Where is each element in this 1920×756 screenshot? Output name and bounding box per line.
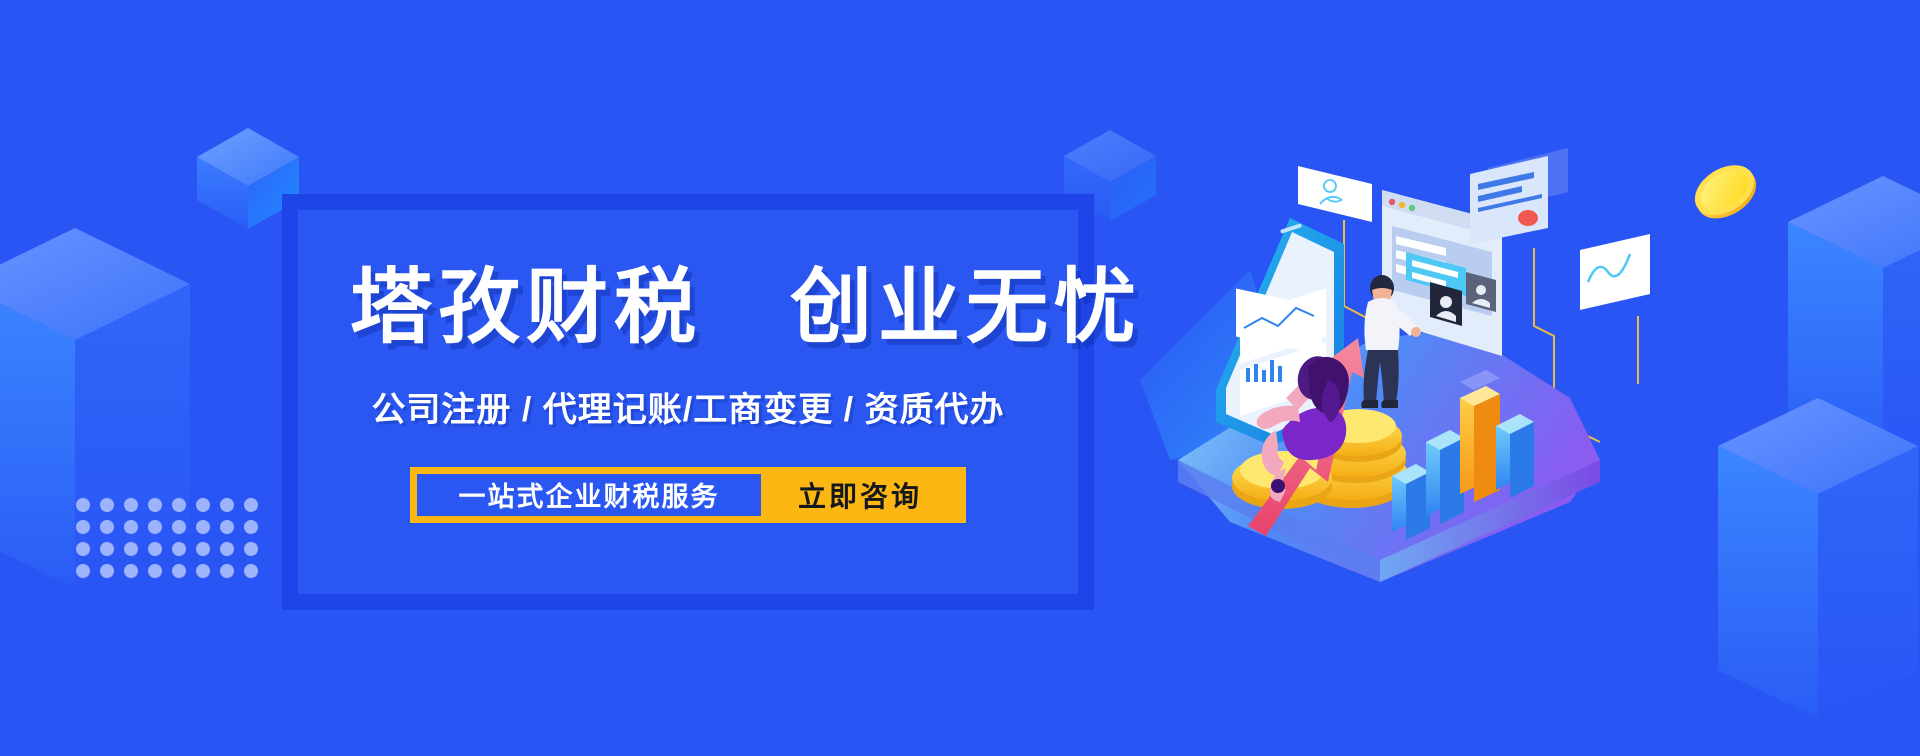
grid-dot (76, 520, 90, 534)
bar-3-highlight (1460, 386, 1500, 502)
iso-tower-right-lower-icon (1718, 398, 1918, 718)
consult-now-button[interactable]: 立即咨询 (761, 475, 959, 515)
grid-dot (196, 542, 210, 556)
grid-dot (124, 564, 138, 578)
cta-bar[interactable]: 一站式企业财税服务 立即咨询 (410, 467, 966, 523)
headline-frame-inner: 塔孜财税 创业无忧 公司注册 / 代理记账/工商变更 / 资质代办 一站式企业财… (298, 210, 1078, 594)
grid-dot (172, 542, 186, 556)
bar-4 (1496, 414, 1534, 498)
grid-dot (172, 520, 186, 534)
grid-dot (220, 542, 234, 556)
grid-dot (124, 498, 138, 512)
grid-dot (244, 498, 258, 512)
grid-dot (196, 564, 210, 578)
grid-dot (76, 564, 90, 578)
page-title: 塔孜财税 创业无忧 (350, 262, 1026, 354)
grid-dot (244, 542, 258, 556)
isometric-finance-illustration (1130, 130, 1650, 590)
iso-tower-left-icon (0, 228, 190, 588)
headline-frame: 塔孜财税 创业无忧 公司注册 / 代理记账/工商变更 / 资质代办 一站式企业财… (282, 194, 1094, 610)
cta-tagline: 一站式企业财税服务 (417, 474, 761, 516)
iso-tower-right-upper-icon (1788, 176, 1920, 476)
grid-dot (100, 564, 114, 578)
grid-dot (124, 520, 138, 534)
grid-dot (172, 498, 186, 512)
grid-dot (148, 498, 162, 512)
bar-1 (1392, 464, 1430, 540)
grid-dot (220, 520, 234, 534)
grid-dot (148, 520, 162, 534)
grid-dot (76, 498, 90, 512)
grid-dot (148, 542, 162, 556)
grid-dot (148, 564, 162, 578)
bar-2 (1426, 430, 1464, 524)
dot-grid-decoration (76, 498, 268, 586)
grid-dot (244, 520, 258, 534)
grid-dot (100, 520, 114, 534)
grid-dot (172, 564, 186, 578)
floating-card-credit (1470, 148, 1568, 244)
gold-coin-top-right-icon (1686, 152, 1764, 230)
floating-card-contact (1298, 166, 1372, 222)
grid-dot (220, 564, 234, 578)
grid-dot (196, 520, 210, 534)
grid-dot (100, 542, 114, 556)
grid-dot (124, 542, 138, 556)
grid-dot (196, 498, 210, 512)
service-list-subtitle: 公司注册 / 代理记账/工商变更 / 资质代办 (350, 382, 1026, 431)
promo-banner: 塔孜财税 创业无忧 公司注册 / 代理记账/工商变更 / 资质代办 一站式企业财… (0, 0, 1920, 756)
floating-card-line-chart (1580, 234, 1650, 310)
grid-dot (220, 498, 234, 512)
grid-dot (76, 542, 90, 556)
grid-dot (100, 498, 114, 512)
grid-dot (244, 564, 258, 578)
